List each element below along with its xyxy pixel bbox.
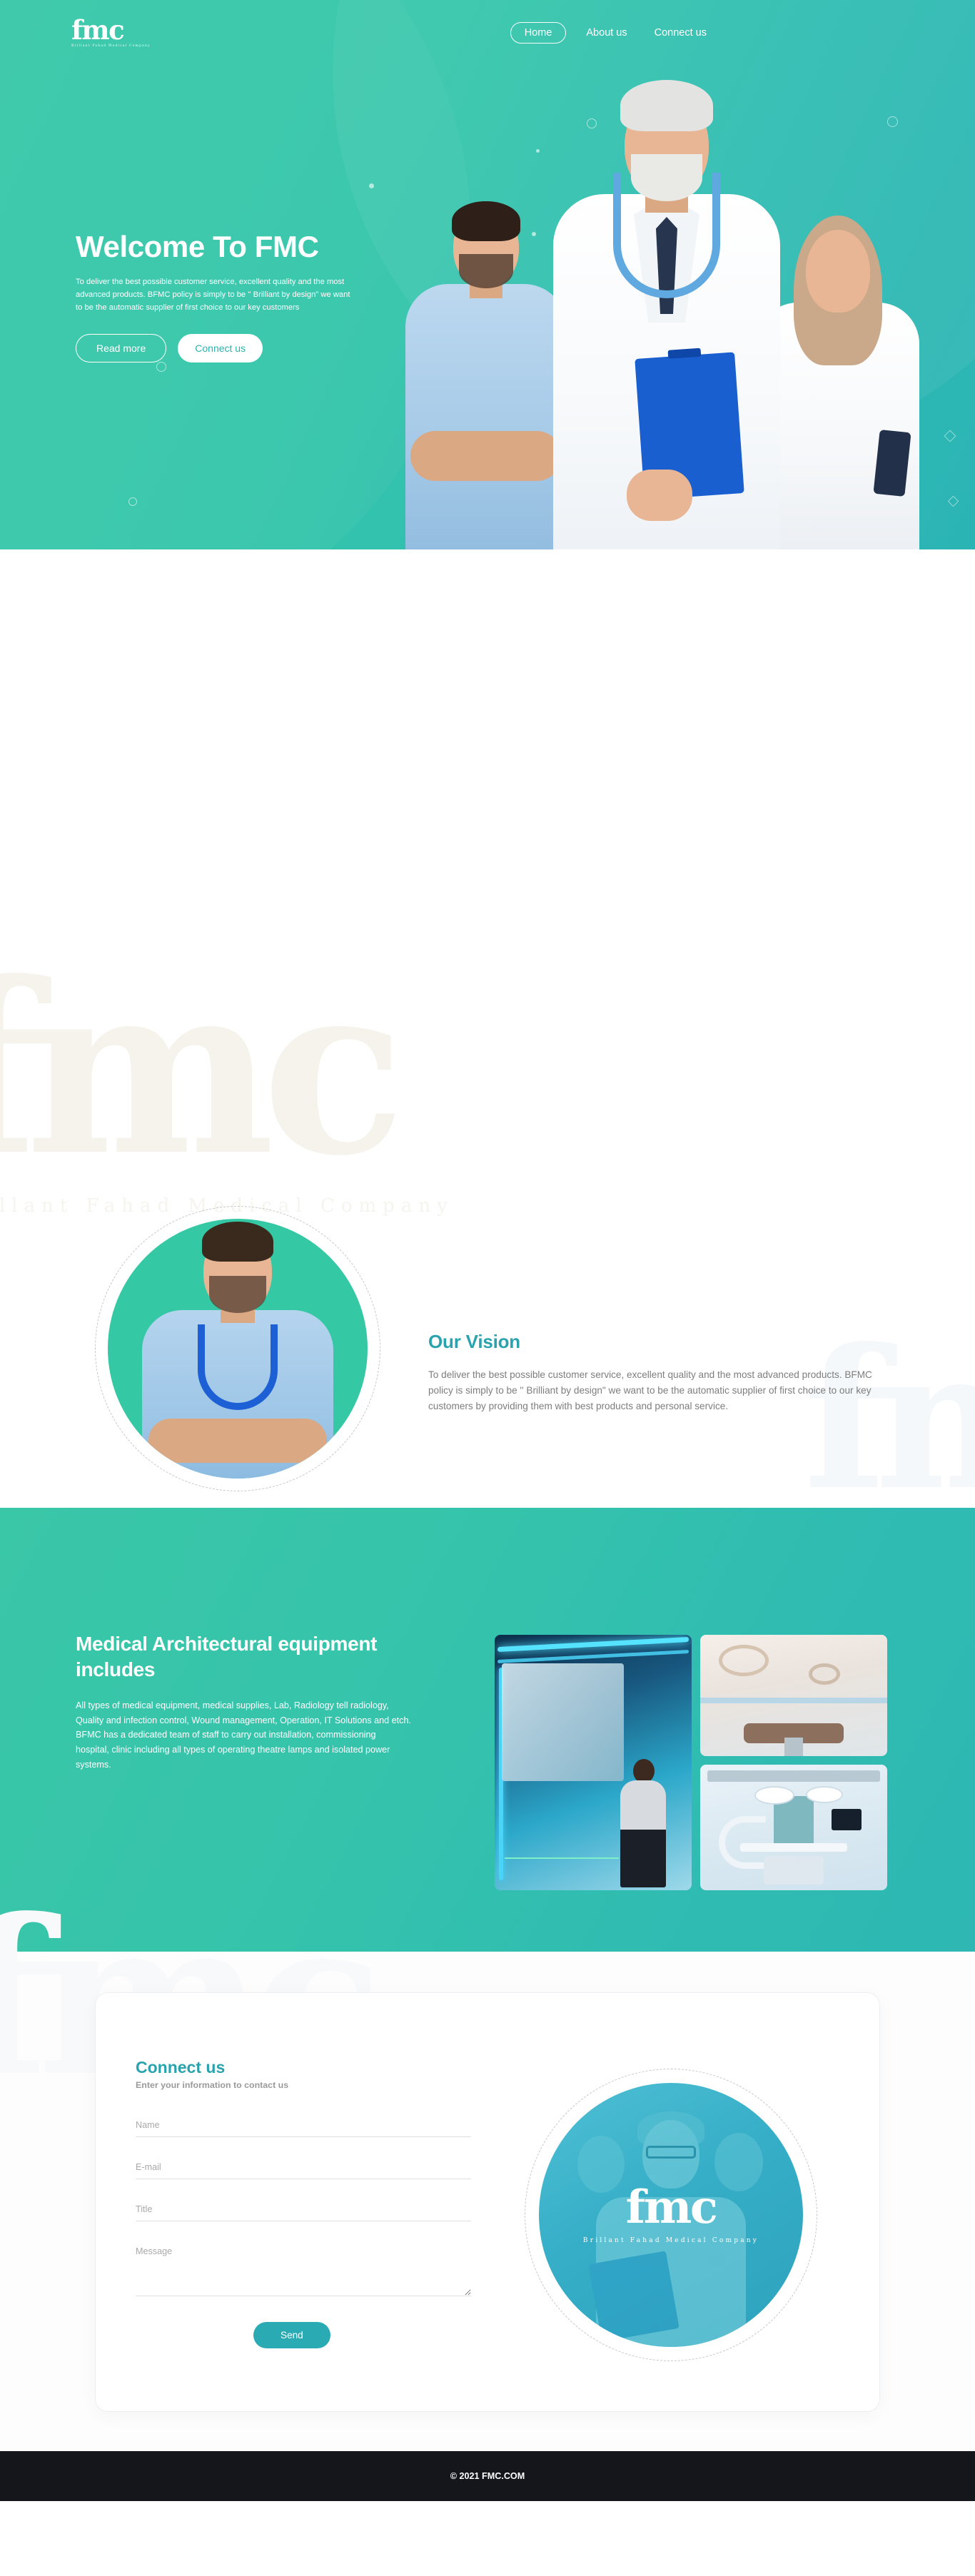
email-input[interactable]: [136, 2159, 471, 2179]
equipment-image-operating-room: [700, 1635, 887, 1756]
connect-logo-photo: fmc Brillant Fahad Medical Company: [539, 2083, 803, 2347]
connect-section: fmc Connect us Enter your information to…: [0, 1952, 975, 2451]
connect-us-button[interactable]: Connect us: [178, 334, 263, 362]
main-navigation: fmc Brillant Fahad Medical Company Home …: [0, 0, 975, 66]
nav-item-home[interactable]: Home: [510, 22, 567, 44]
hero-copy: Welcome To FMC To deliver the best possi…: [76, 230, 383, 362]
nav-item-about-us[interactable]: About us: [579, 22, 634, 44]
read-more-button[interactable]: Read more: [76, 334, 166, 362]
landing-page: fmc Brillant Fahad Medical Company Home …: [0, 0, 975, 2501]
field-email: [136, 2159, 507, 2179]
vision-paragraph: To deliver the best possible customer se…: [428, 1367, 885, 1414]
connect-form: Connect us Enter your information to con…: [136, 2058, 507, 2348]
equipment-image-imaging-suite: [700, 1765, 887, 1890]
field-title: [136, 2201, 507, 2221]
equipment-image-radiology: [495, 1635, 692, 1890]
connect-title: Connect us: [136, 2058, 507, 2077]
vision-title: Our Vision: [428, 1331, 885, 1353]
decor-ring: [156, 362, 166, 372]
hero-title: Welcome To FMC: [76, 230, 383, 264]
nav-links: Home About us Connect us: [510, 22, 714, 44]
field-name: [136, 2117, 507, 2137]
connect-logo-wordmark: fmc: [539, 2187, 803, 2228]
decor-dot: [369, 183, 374, 188]
decor-ring: [128, 497, 137, 506]
vision-doctor-figure: [141, 1219, 334, 1479]
title-input[interactable]: [136, 2201, 471, 2221]
equipment-title: Medical Architectural equipment includes: [76, 1631, 440, 1683]
hero-doctors-photo: [397, 50, 975, 549]
site-footer: © 2021 FMC.COM: [0, 2451, 975, 2501]
site-logo[interactable]: fmc Brillant Fahad Medical Company: [71, 18, 151, 48]
connect-subtitle: Enter your information to contact us: [136, 2080, 507, 2090]
name-input[interactable]: [136, 2117, 471, 2137]
connect-logo-tagline: Brillant Fahad Medical Company: [539, 2237, 803, 2244]
about-section: fmc Brillant Fahad Medical Company fmc O…: [0, 549, 975, 1508]
nav-item-connect-us[interactable]: Connect us: [647, 22, 714, 44]
hero-paragraph: To deliver the best possible customer se…: [76, 275, 358, 314]
doctor-figure-center: [552, 77, 781, 549]
footer-copyright: © 2021 FMC.COM: [450, 2471, 525, 2481]
logo-wordmark: fmc: [71, 18, 123, 42]
equipment-paragraph: All types of medical equipment, medical …: [76, 1698, 411, 1773]
equipment-section: Medical Architectural equipment includes…: [0, 1508, 975, 1952]
doctor-figure-left: [404, 193, 568, 549]
equipment-text-block: Medical Architectural equipment includes…: [76, 1631, 440, 1773]
hero-buttons: Read more Connect us: [76, 334, 383, 362]
watermark-logo-left: fmc: [0, 963, 393, 1175]
send-button[interactable]: Send: [253, 2322, 330, 2348]
message-textarea[interactable]: [136, 2243, 471, 2296]
vision-text-block: Our Vision To deliver the best possible …: [428, 1331, 885, 1414]
equipment-image-grid: [495, 1635, 887, 1892]
hero-section: fmc Brillant Fahad Medical Company Home …: [0, 0, 975, 549]
vision-photo: [108, 1219, 368, 1479]
logo-tagline: Brillant Fahad Medical Company: [71, 44, 151, 48]
field-message: [136, 2243, 507, 2300]
